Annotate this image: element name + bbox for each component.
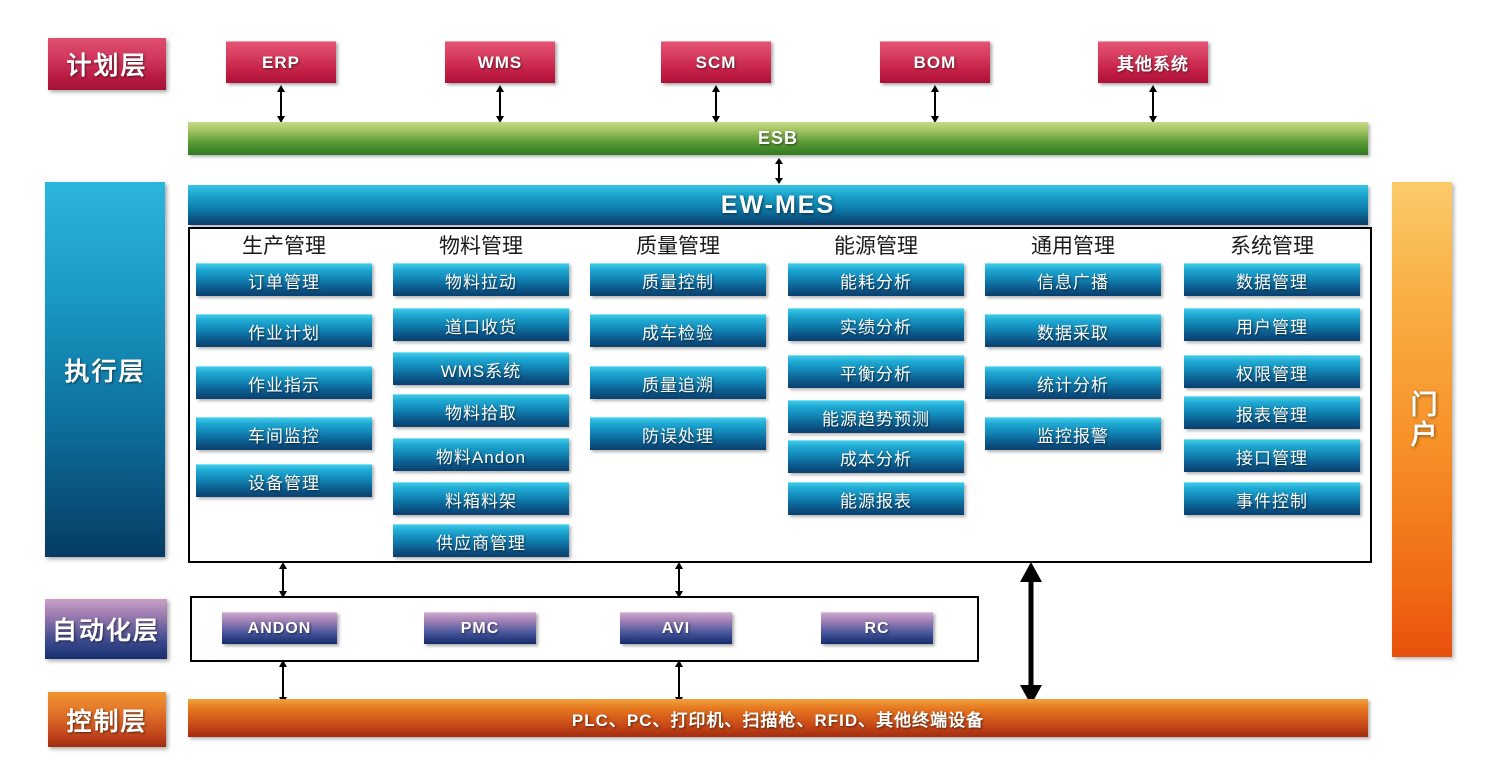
arrow-exec-automation-mid <box>672 562 686 598</box>
module-production-3[interactable]: 车间监控 <box>196 417 372 450</box>
module-production-4-label: 设备管理 <box>248 469 320 494</box>
plan-system-erp-label: ERP <box>262 53 300 73</box>
layer-label-execution: 执行层 <box>45 182 165 557</box>
module-energy-5-label: 能源报表 <box>840 487 912 512</box>
plan-system-wms[interactable]: WMS <box>445 41 555 83</box>
module-system-1[interactable]: 用户管理 <box>1184 308 1360 341</box>
automation-system-andon[interactable]: ANDON <box>222 612 337 644</box>
module-quality-3-label: 防误处理 <box>642 422 714 447</box>
module-energy-4[interactable]: 成本分析 <box>788 440 964 473</box>
module-energy-0[interactable]: 能耗分析 <box>788 263 964 296</box>
module-system-0-label: 数据管理 <box>1236 268 1308 293</box>
module-system-4[interactable]: 接口管理 <box>1184 439 1360 472</box>
layer-label-automation: 自动化层 <box>45 599 167 659</box>
esb-bar: ESB <box>188 122 1368 155</box>
module-quality-1-label: 成车检验 <box>642 319 714 344</box>
module-production-4[interactable]: 设备管理 <box>196 464 372 497</box>
module-production-1-label: 作业计划 <box>248 319 320 344</box>
automation-system-avi-label: AVI <box>662 620 690 638</box>
layer-label-plan: 计划层 <box>48 38 166 90</box>
module-production-1[interactable]: 作业计划 <box>196 314 372 347</box>
arrow-exec-automation-left <box>276 562 290 598</box>
module-quality-0-label: 质量控制 <box>642 268 714 293</box>
module-quality-3[interactable]: 防误处理 <box>590 417 766 450</box>
portal-panel[interactable]: 门户 <box>1392 182 1452 657</box>
group-header-common: 通用管理 <box>985 230 1161 260</box>
module-common-2[interactable]: 统计分析 <box>985 366 1161 399</box>
module-material-5-label: 料箱料架 <box>445 487 517 512</box>
module-system-3[interactable]: 报表管理 <box>1184 396 1360 429</box>
group-header-material: 物料管理 <box>393 230 569 260</box>
module-production-0-label: 订单管理 <box>248 268 320 293</box>
group-header-production-text: 生产管理 <box>242 230 326 260</box>
group-header-production: 生产管理 <box>196 230 372 260</box>
automation-system-andon-label: ANDON <box>248 620 312 638</box>
module-energy-2[interactable]: 平衡分析 <box>788 355 964 388</box>
module-common-1-label: 数据采取 <box>1037 319 1109 344</box>
group-header-common-text: 通用管理 <box>1031 230 1115 260</box>
automation-system-pmc[interactable]: PMC <box>424 612 536 644</box>
module-quality-1[interactable]: 成车检验 <box>590 314 766 347</box>
mes-title-bar: EW-MES <box>188 185 1368 225</box>
module-quality-2[interactable]: 质量追溯 <box>590 366 766 399</box>
module-energy-2-label: 平衡分析 <box>840 360 912 385</box>
portal-label: 门户 <box>1403 390 1442 450</box>
group-header-material-text: 物料管理 <box>439 230 523 260</box>
module-common-3-label: 监控报警 <box>1037 422 1109 447</box>
module-material-0-label: 物料拉动 <box>445 268 517 293</box>
module-system-1-label: 用户管理 <box>1236 313 1308 338</box>
arrow-scm-esb <box>709 85 723 123</box>
module-system-3-label: 报表管理 <box>1236 401 1308 426</box>
group-header-quality: 质量管理 <box>590 230 766 260</box>
automation-system-avi[interactable]: AVI <box>620 612 732 644</box>
architecture-diagram: 计划层 执行层 自动化层 控制层 ERP WMS SCM BOM 其他系统 <box>0 0 1500 763</box>
control-layer-bar-label: PLC、PC、打印机、扫描枪、RFID、其他终端设备 <box>572 706 984 731</box>
module-production-2-label: 作业指示 <box>248 371 320 396</box>
module-system-2-label: 权限管理 <box>1236 360 1308 385</box>
module-material-6-label: 供应商管理 <box>436 529 526 554</box>
layer-label-control: 控制层 <box>48 692 166 747</box>
module-energy-1-label: 实绩分析 <box>840 313 912 338</box>
module-energy-0-label: 能耗分析 <box>840 268 912 293</box>
module-energy-3[interactable]: 能源趋势预测 <box>788 400 964 433</box>
plan-system-bom[interactable]: BOM <box>880 41 990 83</box>
automation-system-rc-label: RC <box>864 620 889 638</box>
group-header-system-text: 系统管理 <box>1230 230 1314 260</box>
module-energy-4-label: 成本分析 <box>840 445 912 470</box>
layer-label-execution-text: 执行层 <box>64 352 145 388</box>
module-energy-5[interactable]: 能源报表 <box>788 482 964 515</box>
group-header-energy: 能源管理 <box>788 230 964 260</box>
group-header-quality-text: 质量管理 <box>636 230 720 260</box>
plan-system-wms-label: WMS <box>478 53 523 73</box>
module-system-4-label: 接口管理 <box>1236 444 1308 469</box>
module-material-4[interactable]: 物料Andon <box>393 438 569 471</box>
module-material-5[interactable]: 料箱料架 <box>393 482 569 515</box>
module-quality-0[interactable]: 质量控制 <box>590 263 766 296</box>
arrow-erp-esb <box>274 85 288 123</box>
module-material-6[interactable]: 供应商管理 <box>393 524 569 557</box>
module-common-1[interactable]: 数据采取 <box>985 314 1161 347</box>
automation-system-rc[interactable]: RC <box>821 612 933 644</box>
module-common-0-label: 信息广播 <box>1037 268 1109 293</box>
module-material-0[interactable]: 物料拉动 <box>393 263 569 296</box>
plan-system-erp[interactable]: ERP <box>226 41 336 83</box>
arrow-exec-control-large <box>1016 562 1046 705</box>
arrow-esb-mes <box>772 158 786 184</box>
module-common-3[interactable]: 监控报警 <box>985 417 1161 450</box>
arrow-wms-esb <box>493 85 507 123</box>
module-material-1[interactable]: 道口收货 <box>393 308 569 341</box>
layer-label-plan-text: 计划层 <box>66 46 147 82</box>
plan-system-scm-label: SCM <box>696 53 737 73</box>
module-common-0[interactable]: 信息广播 <box>985 263 1161 296</box>
esb-label: ESB <box>758 128 798 149</box>
module-material-2[interactable]: WMS系统 <box>393 352 569 385</box>
automation-system-pmc-label: PMC <box>461 620 500 638</box>
arrow-other-esb <box>1146 85 1160 123</box>
module-common-2-label: 统计分析 <box>1037 371 1109 396</box>
module-system-5[interactable]: 事件控制 <box>1184 482 1360 515</box>
module-production-2[interactable]: 作业指示 <box>196 366 372 399</box>
module-production-3-label: 车间监控 <box>248 422 320 447</box>
layer-label-control-text: 控制层 <box>66 702 147 738</box>
group-header-system: 系统管理 <box>1184 230 1360 260</box>
module-material-3[interactable]: 物料拾取 <box>393 394 569 427</box>
mes-title: EW-MES <box>721 191 835 220</box>
plan-system-other[interactable]: 其他系统 <box>1098 41 1208 83</box>
arrow-automation-control-left <box>276 660 290 704</box>
plan-system-other-label: 其他系统 <box>1117 50 1189 75</box>
arrow-bom-esb <box>928 85 942 123</box>
layer-label-automation-text: 自动化层 <box>52 611 160 647</box>
module-energy-1[interactable]: 实绩分析 <box>788 308 964 341</box>
module-system-5-label: 事件控制 <box>1236 487 1308 512</box>
module-material-2-label: WMS系统 <box>441 357 522 382</box>
module-production-0[interactable]: 订单管理 <box>196 263 372 296</box>
plan-system-scm[interactable]: SCM <box>661 41 771 83</box>
module-quality-2-label: 质量追溯 <box>642 371 714 396</box>
module-system-0[interactable]: 数据管理 <box>1184 263 1360 296</box>
plan-system-bom-label: BOM <box>914 53 957 73</box>
module-material-3-label: 物料拾取 <box>445 399 517 424</box>
module-energy-3-label: 能源趋势预测 <box>822 405 930 430</box>
control-layer-bar: PLC、PC、打印机、扫描枪、RFID、其他终端设备 <box>188 699 1368 737</box>
arrow-automation-control-mid <box>672 660 686 704</box>
module-material-1-label: 道口收货 <box>445 313 517 338</box>
module-material-4-label: 物料Andon <box>436 443 526 468</box>
module-system-2[interactable]: 权限管理 <box>1184 355 1360 388</box>
group-header-energy-text: 能源管理 <box>834 230 918 260</box>
